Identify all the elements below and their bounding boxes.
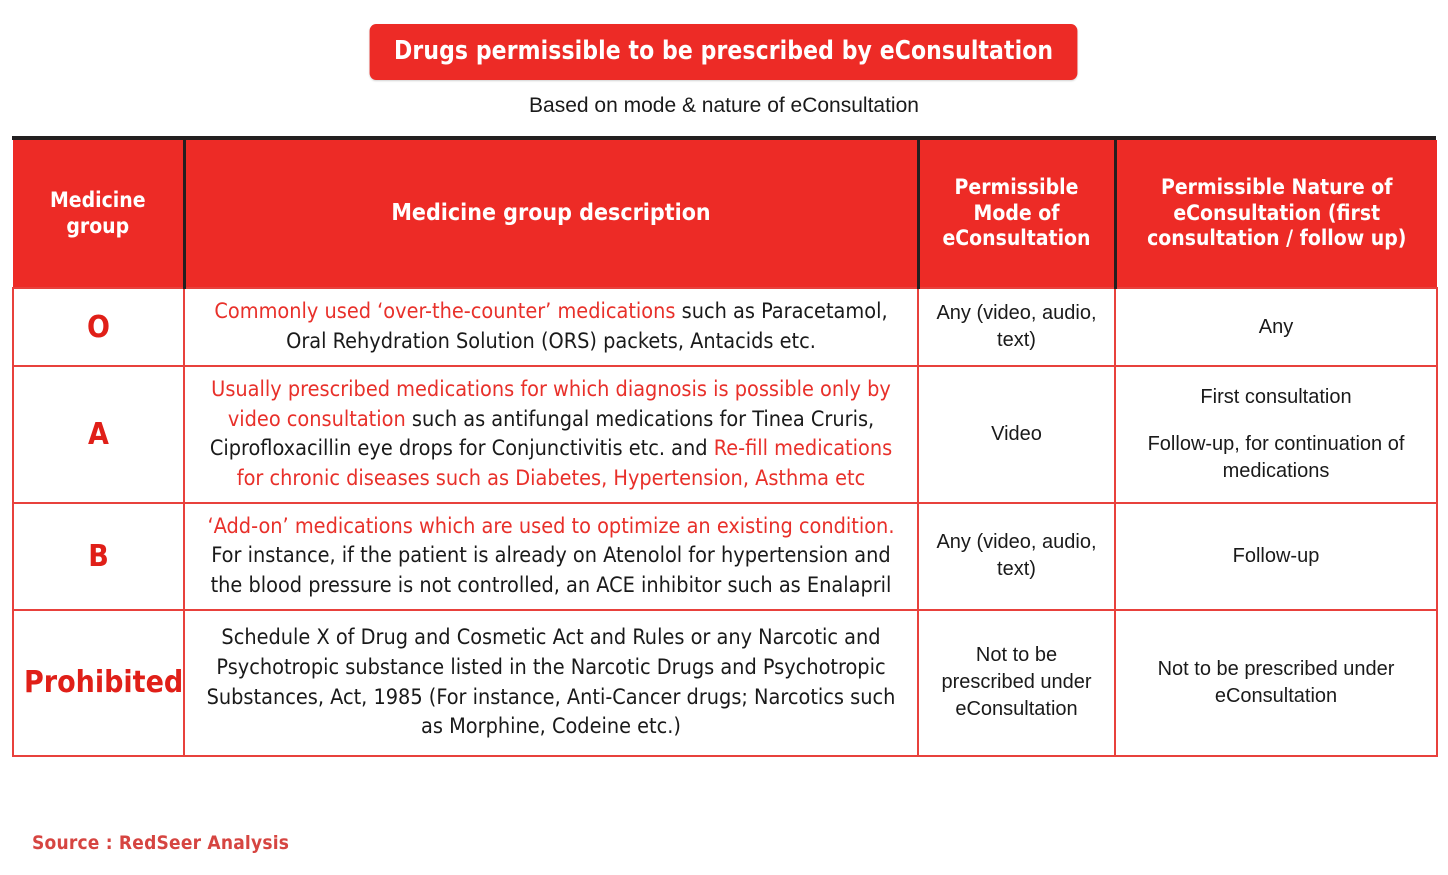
cell-permissible-mode: Any (video, audio, text) bbox=[918, 288, 1115, 366]
table-row: B ‘Add-on’ medications which are used to… bbox=[13, 503, 1437, 610]
cell-group-description: Usually prescribed medications for which… bbox=[184, 366, 918, 503]
nature-paragraph-1: Follow-up, for continuation of medicatio… bbox=[1126, 431, 1426, 485]
table-body: O Commonly used ‘over-the-counter’ medic… bbox=[13, 288, 1437, 756]
cell-permissible-nature: Any bbox=[1115, 288, 1437, 366]
table-header: Medicine group Medicine group descriptio… bbox=[13, 140, 1437, 288]
column-header-group-description: Medicine group description bbox=[184, 140, 918, 288]
table-row: Prohibited Schedule X of Drug and Cosmet… bbox=[13, 610, 1437, 756]
table-header-row: Medicine group Medicine group descriptio… bbox=[13, 140, 1437, 288]
cell-group-description: ‘Add-on’ medications which are used to o… bbox=[184, 503, 918, 610]
cell-permissible-mode: Any (video, audio, text) bbox=[918, 503, 1115, 610]
cell-medicine-group: A bbox=[13, 366, 184, 503]
description-segment-0: Commonly used ‘over-the-counter’ medicat… bbox=[214, 299, 675, 324]
nature-paragraph-0: Any bbox=[1126, 314, 1426, 341]
cell-group-description: Commonly used ‘over-the-counter’ medicat… bbox=[184, 288, 918, 366]
source-note: Source : RedSeer Analysis bbox=[32, 832, 289, 854]
column-header-permissible-mode: Permissible Mode of eConsultation bbox=[918, 140, 1115, 288]
column-header-medicine-group: Medicine group bbox=[13, 140, 184, 288]
description-segment-1: For instance, if the patient is already … bbox=[211, 543, 892, 598]
drug-permission-table-container: Medicine group Medicine group descriptio… bbox=[12, 136, 1436, 757]
nature-paragraph-0: First consultation bbox=[1126, 384, 1426, 411]
cell-group-description: Schedule X of Drug and Cosmetic Act and … bbox=[184, 610, 918, 756]
description-segment-0: Schedule X of Drug and Cosmetic Act and … bbox=[207, 625, 896, 739]
cell-permissible-nature: Follow-up bbox=[1115, 503, 1437, 610]
cell-permissible-mode: Not to be prescribed under eConsultation bbox=[918, 610, 1115, 756]
column-header-permissible-nature: Permissible Nature of eConsultation (fir… bbox=[1115, 140, 1437, 288]
description-segment-0: ‘Add-on’ medications which are used to o… bbox=[208, 514, 895, 539]
table-row: O Commonly used ‘over-the-counter’ medic… bbox=[13, 288, 1437, 366]
cell-permissible-mode: Video bbox=[918, 366, 1115, 503]
drug-permission-table: Medicine group Medicine group descriptio… bbox=[12, 140, 1438, 757]
nature-paragraph-0: Follow-up bbox=[1126, 543, 1426, 570]
cell-medicine-group: B bbox=[13, 503, 184, 610]
cell-medicine-group: O bbox=[13, 288, 184, 366]
table-row: A Usually prescribed medications for whi… bbox=[13, 366, 1437, 503]
page-subtitle: Based on mode & nature of eConsultation bbox=[0, 93, 1448, 118]
cell-permissible-nature: Not to be prescribed under eConsultation bbox=[1115, 610, 1437, 756]
cell-permissible-nature: First consultationFollow-up, for continu… bbox=[1115, 366, 1437, 503]
cell-medicine-group: Prohibited bbox=[13, 610, 184, 756]
nature-paragraph-0: Not to be prescribed under eConsultation bbox=[1126, 656, 1426, 710]
page-title: Drugs permissible to be prescribed by eC… bbox=[370, 24, 1078, 80]
title-block: Drugs permissible to be prescribed by eC… bbox=[0, 0, 1448, 118]
